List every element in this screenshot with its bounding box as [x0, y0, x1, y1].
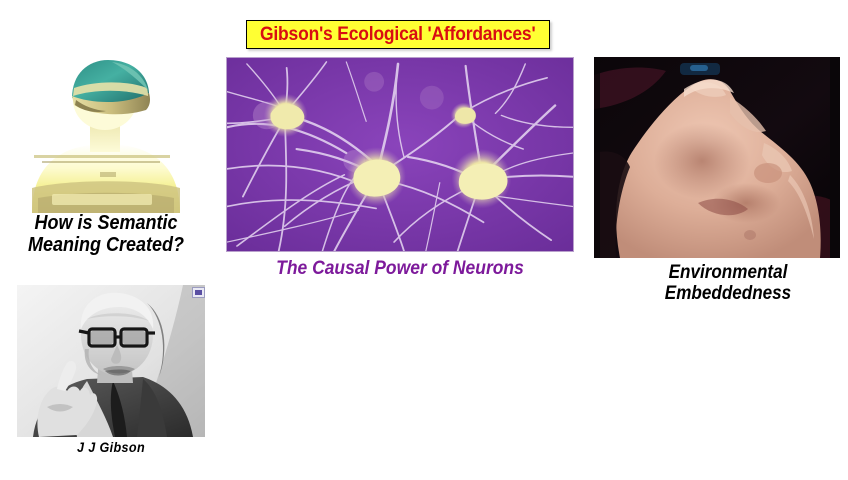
slide-title-text: Gibson's Ecological 'Affordances'	[260, 25, 535, 44]
caption-jj-gibson: J J Gibson	[34, 440, 189, 456]
broken-image-icon	[192, 287, 205, 298]
caption-environmental-embeddedness: Environmental Embeddedness	[629, 262, 827, 305]
hand-photo-graphic	[594, 57, 840, 258]
caption-causal-power-of-neurons: The Causal Power of Neurons	[253, 258, 547, 279]
neuron-micrograph-graphic	[227, 58, 573, 251]
jj-gibson-portrait-image	[17, 285, 205, 437]
caption-semantic-meaning: How is Semantic Meaning Created?	[16, 212, 196, 257]
abstract-bust-figure-graphic	[8, 48, 204, 213]
neuron-micrograph-image	[226, 57, 574, 252]
jj-gibson-portrait-graphic	[17, 285, 205, 437]
slide-title-banner: Gibson's Ecological 'Affordances'	[246, 20, 550, 49]
abstract-bust-figure-image	[8, 48, 204, 213]
slide-canvas: Gibson's Ecological 'Affordances'	[0, 0, 848, 480]
hand-photo-image	[594, 57, 840, 258]
